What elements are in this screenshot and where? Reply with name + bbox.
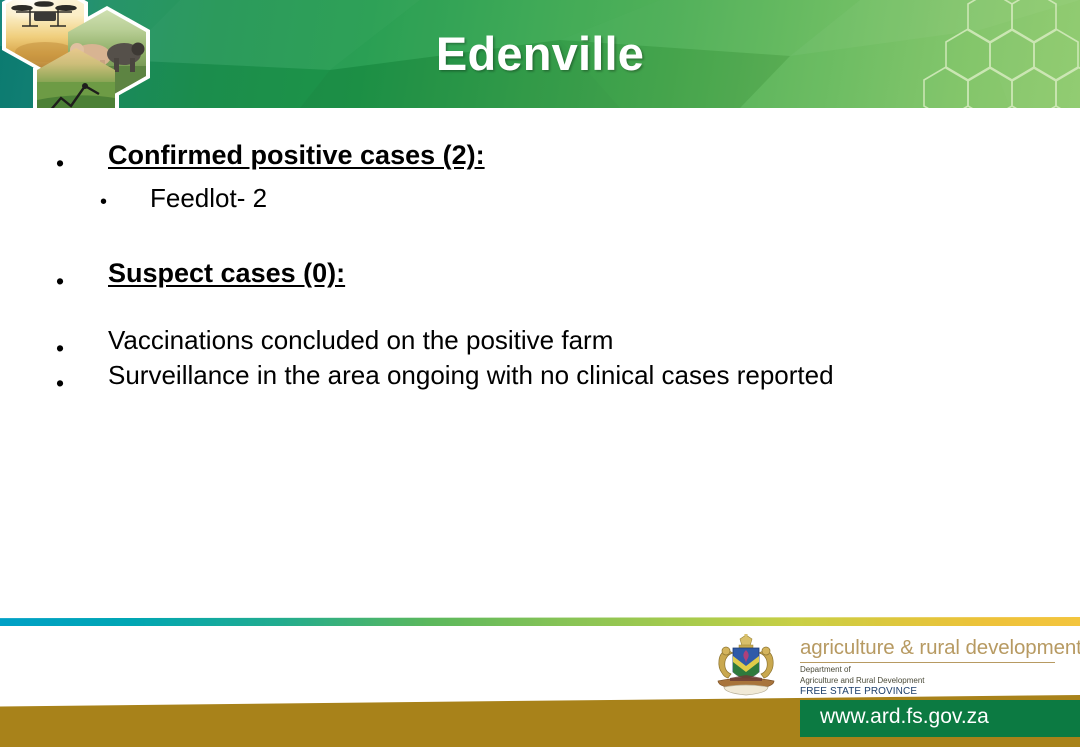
bullet-marker-icon: • xyxy=(56,258,108,293)
spacer xyxy=(0,293,1080,325)
bullet-marker-icon: • xyxy=(56,360,108,395)
bullet-marker-icon: • xyxy=(56,140,108,175)
bullet-text: Surveillance in the area ongoing with no… xyxy=(108,360,834,391)
spacer xyxy=(0,214,1080,258)
department-line-2: Agriculture and Rural Development xyxy=(800,676,1062,685)
bullet-item-confirmed-cases: • Confirmed positive cases (2): xyxy=(0,140,1080,175)
bullet-marker-icon: • xyxy=(100,183,150,212)
bullet-text: Confirmed positive cases (2): xyxy=(108,140,485,171)
spacer xyxy=(0,175,1080,183)
coat-of-arms-icon xyxy=(700,634,792,702)
presentation-slide: Edenville xyxy=(0,0,1080,747)
bullet-text: Feedlot- 2 xyxy=(150,183,267,214)
bullet-item-suspect-cases: • Suspect cases (0): xyxy=(0,258,1080,293)
department-line-1: Department of xyxy=(800,665,1062,674)
bullet-item-surveillance: • Surveillance in the area ongoing with … xyxy=(0,360,1080,395)
logo-text-block: agriculture & rural development Departme… xyxy=(800,636,1062,697)
slide-header: Edenville xyxy=(0,0,1080,108)
bullet-text: Vaccinations concluded on the positive f… xyxy=(108,325,613,356)
bullet-item-feedlot: • Feedlot- 2 xyxy=(0,183,1080,214)
bullet-marker-icon: • xyxy=(56,325,108,360)
slide-body: • Confirmed positive cases (2): • Feedlo… xyxy=(0,140,1080,395)
bullet-text: Suspect cases (0): xyxy=(108,258,345,289)
bullet-item-vaccinations: • Vaccinations concluded on the positive… xyxy=(0,325,1080,360)
department-line-3: FREE STATE PROVINCE xyxy=(800,686,1062,697)
page-title: Edenville xyxy=(0,26,1080,81)
footer-url[interactable]: www.ard.fs.gov.za xyxy=(820,705,989,729)
department-logo: agriculture & rural development Departme… xyxy=(700,634,1070,704)
hex-photo-cluster xyxy=(6,0,156,108)
brand-underline xyxy=(800,662,1055,663)
footer-gradient-rule xyxy=(0,617,1080,626)
brand-name: agriculture & rural development xyxy=(800,636,1062,660)
